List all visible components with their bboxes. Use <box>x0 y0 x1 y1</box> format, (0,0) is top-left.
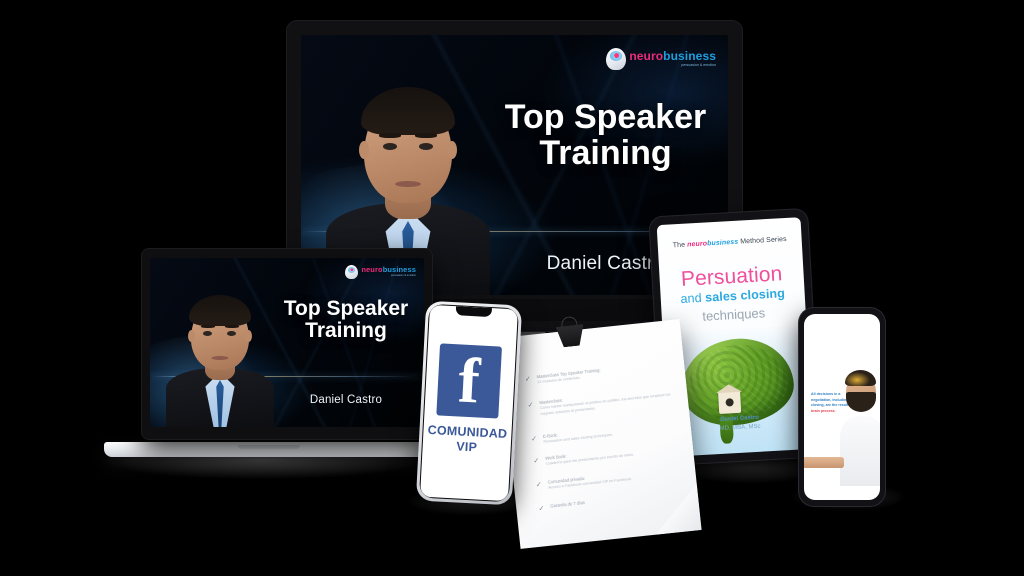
laptop-slide-author: Daniel Castro <box>274 394 418 406</box>
check-icon: ✓ <box>536 481 544 489</box>
portrait-brow-right <box>415 133 437 138</box>
book-series-prefix: The <box>673 242 686 250</box>
laptop-neurobusiness-wordmark: neurobusiness persuasion & emotion <box>361 266 416 277</box>
smartphone-facebook: f COMUNIDAD VIP <box>416 301 522 506</box>
laptop-portrait-ear-left <box>188 330 195 342</box>
laptop-logo-tagline: persuasion & emotion <box>361 275 416 278</box>
facebook-logo-icon: f <box>436 343 502 418</box>
laptop-lid: neurobusiness persuasion & emotion <box>142 249 432 439</box>
laptop-portrait-hair <box>189 295 251 326</box>
check-icon: ✓ <box>533 457 541 465</box>
portrait-mouth <box>395 181 421 187</box>
rphone-presenter-figure <box>832 368 880 486</box>
brain-head-icon <box>606 48 626 70</box>
laptop-screen: neurobusiness persuasion & emotion <box>150 258 424 427</box>
slide-title: Top Speaker Training <box>491 99 720 171</box>
fbphone-screen: f COMUNIDAD VIP <box>420 305 518 501</box>
laptop-portrait-eye-left <box>203 331 212 336</box>
facebook-f-glyph: f <box>457 348 482 413</box>
laptop-logo-neuro-text: neuro <box>361 265 382 274</box>
smartphone-video: All decisions in a negotiation, includin… <box>799 308 885 506</box>
laptop-portrait-mouth <box>212 356 229 360</box>
book-series-brand-neuro: neuro <box>687 240 707 248</box>
portrait-ear-right <box>447 141 457 159</box>
book-title-bold: sales closing <box>705 286 785 304</box>
laptop-trackpad-notch <box>238 445 300 449</box>
check-icon: ✓ <box>527 402 535 410</box>
birdhouse-icon <box>718 391 741 414</box>
slide-title-line1: Top Speaker <box>491 99 720 135</box>
laptop-slide-title-line2: Training <box>274 320 418 342</box>
laptop-slide-title: Top Speaker Training <box>274 298 418 343</box>
slide-title-line2: Training <box>491 135 720 171</box>
portrait-eye-left <box>383 143 397 150</box>
book-series-label: The neurobusiness Method Series <box>658 235 802 250</box>
portrait-hair <box>361 87 455 135</box>
laptop-portrait-ear-right <box>245 330 252 342</box>
book-title-sub: techniques <box>661 303 806 326</box>
laptop-portrait-eye-right <box>227 331 236 336</box>
laptop-neurobusiness-logo: neurobusiness persuasion & emotion <box>345 265 416 279</box>
laptop: neurobusiness persuasion & emotion <box>104 249 434 467</box>
portrait-brow-left <box>379 133 401 138</box>
neurobusiness-wordmark: neurobusiness persuasion & emotion <box>629 50 716 68</box>
check-icon: ✓ <box>531 436 539 444</box>
rphone-presenter-body <box>840 416 880 486</box>
rphone-presenter-beard <box>846 392 876 412</box>
portrait-eye-right <box>419 143 433 150</box>
book-series-brand-business: business <box>707 239 738 248</box>
laptop-speaker-portrait <box>164 276 276 427</box>
binder-clip-body <box>556 324 586 348</box>
product-mockup-scene: neurobusiness persuasion & emotion <box>0 0 1024 576</box>
book-title-and: and <box>680 291 705 306</box>
rphone-presenter-arm <box>804 457 844 468</box>
logo-business-text: business <box>663 49 716 63</box>
checklist-document: ✓ Masterclass Top Speaker Training: 12 m… <box>498 319 701 549</box>
check-icon: ✓ <box>538 505 546 513</box>
portrait-ear-left <box>359 141 369 159</box>
logo-neuro-text: neuro <box>629 49 663 63</box>
laptop-portrait-brow-right <box>225 325 239 328</box>
rphone-brain-glow <box>844 372 870 388</box>
check-icon: ✓ <box>525 376 533 384</box>
neurobusiness-logo: neurobusiness persuasion & emotion <box>606 48 716 70</box>
binder-clip-icon <box>555 315 586 348</box>
laptop-portrait-brow-left <box>201 325 215 328</box>
logo-tagline: persuasion & emotion <box>629 64 716 68</box>
fbphone-notch <box>456 306 492 317</box>
laptop-slide-title-line1: Top Speaker <box>274 298 418 320</box>
laptop-brain-head-icon <box>345 265 358 279</box>
rphone-screen: All decisions in a negotiation, includin… <box>804 314 880 500</box>
book-series-suffix: Method Series <box>740 236 787 246</box>
